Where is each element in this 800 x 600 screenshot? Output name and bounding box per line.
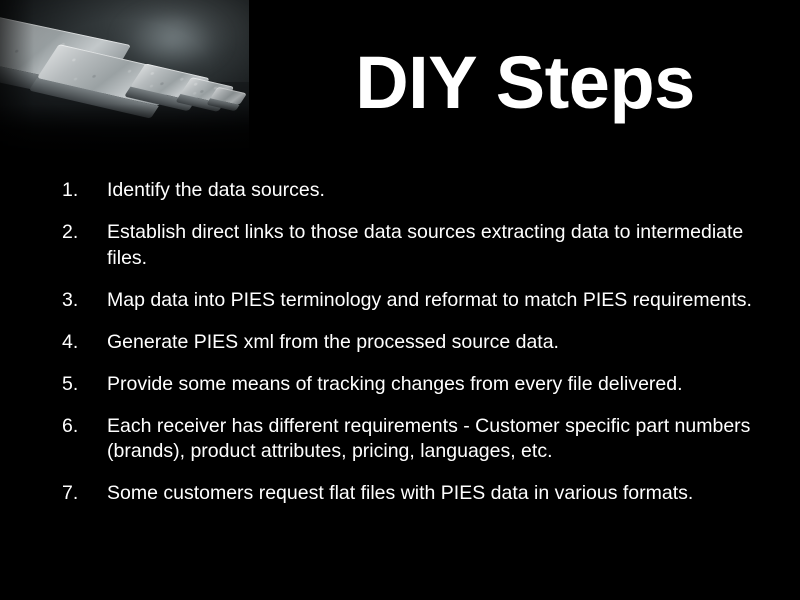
list-item-number: 5. <box>62 372 92 398</box>
list-item: 7. Some customers request flat files wit… <box>62 481 762 507</box>
list-item-text: Provide some means of tracking changes f… <box>107 372 762 398</box>
list-item: 1. Identify the data sources. <box>62 178 762 204</box>
list-item: 5. Provide some means of tracking change… <box>62 372 762 398</box>
list-item-text: Some customers request flat files with P… <box>107 481 762 507</box>
list-item-number: 3. <box>62 288 92 314</box>
list-item-number: 6. <box>62 414 92 440</box>
list-item-number: 2. <box>62 220 92 246</box>
slide-title: DIY Steps <box>250 44 800 122</box>
list-item-text: Map data into PIES terminology and refor… <box>107 288 762 314</box>
list-item-text: Identify the data sources. <box>107 178 762 204</box>
photo-bottom-fade <box>0 104 249 158</box>
list-item: 3. Map data into PIES terminology and re… <box>62 288 762 314</box>
list-item-text: Each receiver has different requirements… <box>107 414 762 466</box>
list-item-number: 1. <box>62 178 92 204</box>
list-item: 2. Establish direct links to those data … <box>62 220 762 272</box>
list-item: 4. Generate PIES xml from the processed … <box>62 330 762 356</box>
metal-ingots-photo <box>0 0 249 158</box>
list-item: 6. Each receiver has different requireme… <box>62 414 762 466</box>
list-item-text: Establish direct links to those data sou… <box>107 220 762 272</box>
steps-list: 1. Identify the data sources. 2. Establi… <box>62 178 762 523</box>
list-item-number: 4. <box>62 330 92 356</box>
list-item-text: Generate PIES xml from the processed sou… <box>107 330 762 356</box>
presentation-slide: DIY Steps 1. Identify the data sources. … <box>0 0 800 600</box>
list-item-number: 7. <box>62 481 92 507</box>
